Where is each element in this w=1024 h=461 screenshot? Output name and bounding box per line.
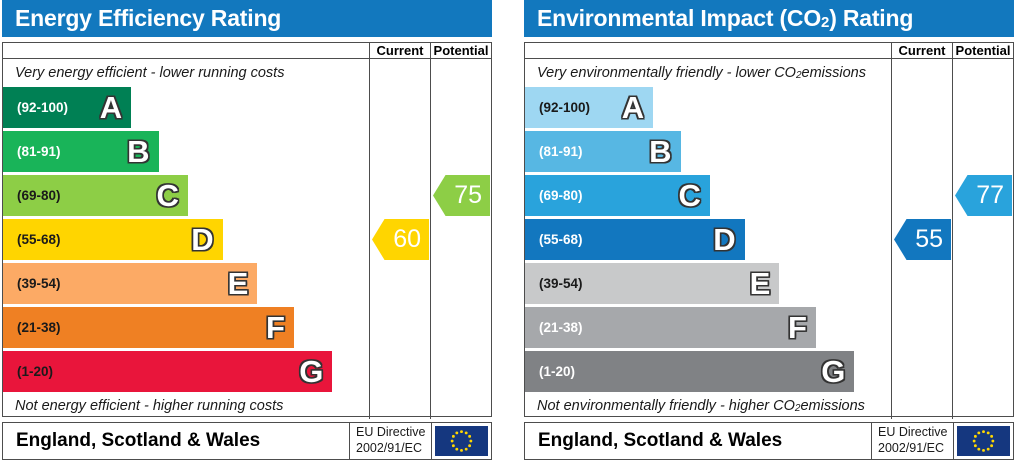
band-range-g: (1-20) [525, 364, 575, 379]
band-range-c: (69-80) [3, 188, 61, 203]
band-c: (69-80)C [525, 175, 710, 216]
title-energy-efficiency: Energy Efficiency Rating [2, 0, 492, 37]
title-text: Environmental Impact (CO [537, 5, 821, 32]
column-header-potential: Potential [430, 43, 491, 58]
note-top-text: Very environmentally friendly - lower CO [537, 65, 796, 81]
title-suffix: ) Rating [829, 5, 913, 32]
band-letter-b: B [127, 136, 149, 167]
note-top-suffix: emissions [802, 65, 866, 81]
potential-rating-column: 77 [952, 59, 1013, 419]
eu-flag-cell [953, 423, 1013, 459]
current-rating-column: 60 [369, 59, 430, 419]
directive-line-1: EU Directive [356, 425, 425, 441]
band-letter-e: E [228, 268, 249, 299]
band-letter-c: C [678, 180, 700, 211]
epc-certificates-page: Energy Efficiency RatingCurrentPotential… [0, 0, 1024, 461]
column-header-potential: Potential [952, 43, 1013, 58]
title-subscript: 2 [821, 14, 829, 31]
band-letter-g: G [821, 356, 845, 387]
chart-body: Very environmentally friendly - lower CO… [525, 59, 1013, 419]
rating-bands: (92-100)A(81-91)B(69-80)C(55-68)D(39-54)… [3, 86, 369, 392]
chart-body: Very energy efficient - lower running co… [3, 59, 491, 419]
directive-line-2: 2002/91/EC [356, 441, 422, 457]
band-c: (69-80)C [3, 175, 188, 216]
band-letter-d: D [191, 224, 213, 255]
eu-flag-icon [435, 426, 488, 456]
band-range-b: (81-91) [3, 144, 61, 159]
note-bottom-subscript: 2 [795, 403, 801, 414]
footer-environmental-impact: England, Scotland & WalesEU Directive200… [524, 422, 1014, 460]
title-environmental-impact: Environmental Impact (CO2) Rating [524, 0, 1014, 37]
column-header-current: Current [891, 43, 952, 58]
footer-directive: EU Directive2002/91/EC [871, 423, 953, 459]
potential-rating-column: 75 [430, 59, 491, 419]
band-range-e: (39-54) [525, 276, 583, 291]
header-spacer [525, 43, 891, 58]
band-range-f: (21-38) [525, 320, 583, 335]
column-header-row: CurrentPotential [3, 43, 491, 59]
note-bottom-suffix: emissions [800, 398, 864, 414]
band-letter-g: G [299, 356, 323, 387]
column-header-current: Current [369, 43, 430, 58]
current-rating-column-marker: 55 [894, 219, 951, 260]
band-letter-a: A [622, 92, 644, 123]
band-a: (92-100)A [3, 87, 131, 128]
band-b: (81-91)B [525, 131, 681, 172]
chart-box-environmental-impact: CurrentPotentialVery environmentally fri… [524, 42, 1014, 417]
footer-energy-efficiency: England, Scotland & WalesEU Directive200… [2, 422, 492, 460]
bands-column: Very environmentally friendly - lower CO… [525, 59, 891, 419]
rating-bands: (92-100)A(81-91)B(69-80)C(55-68)D(39-54)… [525, 86, 891, 392]
band-range-c: (69-80) [525, 188, 583, 203]
current-rating-column: 55 [891, 59, 952, 419]
band-e: (39-54)E [525, 263, 779, 304]
band-d: (55-68)D [3, 219, 223, 260]
band-range-d: (55-68) [3, 232, 61, 247]
band-g: (1-20)G [525, 351, 854, 392]
header-spacer [3, 43, 369, 58]
bands-column: Very energy efficient - lower running co… [3, 59, 369, 419]
band-range-a: (92-100) [525, 100, 590, 115]
band-f: (21-38)F [3, 307, 294, 348]
note-bottom: Not environmentally friendly - higher CO… [525, 392, 891, 419]
footer-region-label: England, Scotland & Wales [525, 423, 871, 459]
note-top: Very environmentally friendly - lower CO… [525, 59, 891, 86]
band-d: (55-68)D [525, 219, 745, 260]
directive-line-1: EU Directive [878, 425, 947, 441]
band-e: (39-54)E [3, 263, 257, 304]
note-top: Very energy efficient - lower running co… [3, 59, 369, 86]
band-letter-b: B [649, 136, 671, 167]
note-top-text: Very energy efficient - lower running co… [15, 65, 284, 81]
footer-directive: EU Directive2002/91/EC [349, 423, 431, 459]
band-a: (92-100)A [525, 87, 653, 128]
current-rating-column-marker: 60 [372, 219, 429, 260]
band-b: (81-91)B [3, 131, 159, 172]
certificate-environmental-impact: Environmental Impact (CO2) RatingCurrent… [524, 0, 1014, 461]
note-bottom: Not energy efficient - higher running co… [3, 392, 369, 419]
footer-region-label: England, Scotland & Wales [3, 423, 349, 459]
eu-flag-cell [431, 423, 491, 459]
band-letter-f: F [266, 312, 285, 343]
chart-box-energy-efficiency: CurrentPotentialVery energy efficient - … [2, 42, 492, 417]
note-top-subscript: 2 [796, 70, 802, 81]
potential-rating-column-marker: 77 [955, 175, 1012, 216]
potential-rating-column-marker: 75 [433, 175, 490, 216]
column-header-row: CurrentPotential [525, 43, 1013, 59]
band-range-f: (21-38) [3, 320, 61, 335]
band-letter-c: C [156, 180, 178, 211]
band-g: (1-20)G [3, 351, 332, 392]
directive-line-2: 2002/91/EC [878, 441, 944, 457]
band-letter-a: A [100, 92, 122, 123]
band-range-d: (55-68) [525, 232, 583, 247]
title-text: Energy Efficiency Rating [15, 5, 281, 32]
note-bottom-text: Not environmentally friendly - higher CO [537, 398, 795, 414]
eu-flag-icon [957, 426, 1010, 456]
band-range-a: (92-100) [3, 100, 68, 115]
band-letter-e: E [750, 268, 771, 299]
band-letter-d: D [713, 224, 735, 255]
band-range-g: (1-20) [3, 364, 53, 379]
band-range-b: (81-91) [525, 144, 583, 159]
band-letter-f: F [788, 312, 807, 343]
band-f: (21-38)F [525, 307, 816, 348]
certificate-energy-efficiency: Energy Efficiency RatingCurrentPotential… [2, 0, 492, 461]
band-range-e: (39-54) [3, 276, 61, 291]
note-bottom-text: Not energy efficient - higher running co… [15, 398, 283, 414]
